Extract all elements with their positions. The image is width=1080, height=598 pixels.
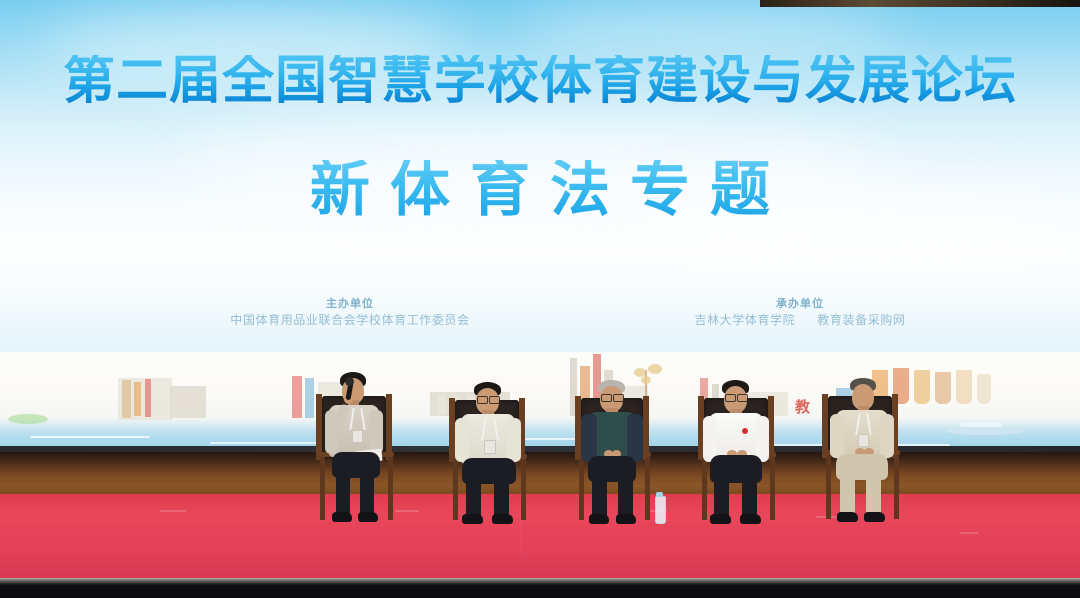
- screen-bezel-top: [760, 0, 1080, 7]
- organizer-name: 中国体育用品业联合会学校体育工作委员会: [120, 312, 580, 328]
- cohost-names: 吉林大学体育学院教育装备采购网: [600, 312, 1000, 328]
- stage-front-apron: [0, 578, 1080, 598]
- cohost-block: 承办单位 吉林大学体育学院教育装备采购网: [600, 297, 1000, 328]
- name-badge: [484, 440, 496, 454]
- glasses: [477, 396, 488, 404]
- forum-title: 第二届全国智慧学校体育建设与发展论坛: [0, 55, 1080, 107]
- illustration-red-character: 教: [795, 396, 810, 417]
- stage-red-carpet: [0, 494, 1080, 578]
- cohost-name-1: 吉林大学体育学院: [694, 313, 795, 327]
- glasses: [725, 394, 736, 402]
- glasses: [601, 394, 612, 402]
- organizer-heading: 主办单位: [120, 297, 580, 311]
- cohost-name-2: 教育装备采购网: [817, 313, 905, 327]
- red-lapel-pin: [742, 428, 748, 434]
- conference-photo: 第二届全国智慧学校体育建设与发展论坛 新体育法专题 主办单位 中国体育用品业联合…: [0, 0, 1080, 598]
- jacket-sleeve: [627, 414, 643, 462]
- water-bottle: [655, 496, 666, 524]
- credits-row: 主办单位 中国体育用品业联合会学校体育工作委员会 承办单位 吉林大学体育学院教育…: [0, 297, 1080, 339]
- led-screen-backdrop: 第二届全国智慧学校体育建设与发展论坛 新体育法专题 主办单位 中国体育用品业联合…: [0, 0, 1080, 452]
- campus-waterfront-illustration: 爱 教 乐: [0, 352, 1080, 452]
- jacket-sleeve: [581, 414, 597, 462]
- forum-subtitle: 新体育法专题: [0, 160, 1080, 220]
- glasses: [737, 394, 748, 402]
- bottle-cap: [656, 492, 663, 497]
- cohost-heading: 承办单位: [600, 297, 1000, 311]
- glasses: [613, 394, 624, 402]
- microphone-head: [345, 377, 354, 386]
- name-badge: [858, 434, 869, 447]
- stage-back-wall: [0, 452, 1080, 494]
- glasses: [489, 396, 500, 404]
- organizer-block: 主办单位 中国体育用品业联合会学校体育工作委员会: [120, 297, 580, 328]
